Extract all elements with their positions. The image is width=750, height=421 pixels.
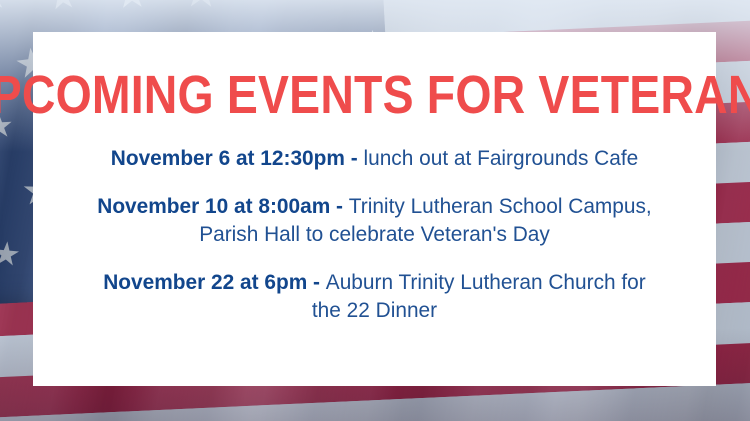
- event-datetime: November 22 at 6pm -: [103, 270, 326, 294]
- event-description: Auburn Trinity Lutheran Church for the 2…: [312, 270, 646, 322]
- flag-star: [46, 0, 78, 13]
- event-description: lunch out at Fairgrounds Cafe: [363, 146, 638, 170]
- content-card: UPCOMING EVENTS FOR VETERANS November 6 …: [33, 32, 716, 386]
- event-item: November 6 at 12:30pm - lunch out at Fai…: [68, 145, 680, 173]
- event-datetime: November 10 at 8:00am -: [97, 194, 349, 218]
- flag-star: [115, 0, 149, 11]
- flag-star: [0, 240, 20, 268]
- events-list: November 6 at 12:30pm - lunch out at Fai…: [59, 145, 690, 325]
- event-item: November 10 at 8:00am - Trinity Lutheran…: [68, 193, 680, 249]
- page-title: UPCOMING EVENTS FOR VETERANS: [0, 68, 750, 123]
- event-datetime: November 6 at 12:30pm -: [111, 146, 364, 170]
- veterans-events-poster: UPCOMING EVENTS FOR VETERANS November 6 …: [0, 0, 750, 421]
- flag-star: [0, 0, 8, 14]
- event-item: November 22 at 6pm - Auburn Trinity Luth…: [68, 269, 680, 325]
- flag-star: [183, 0, 219, 10]
